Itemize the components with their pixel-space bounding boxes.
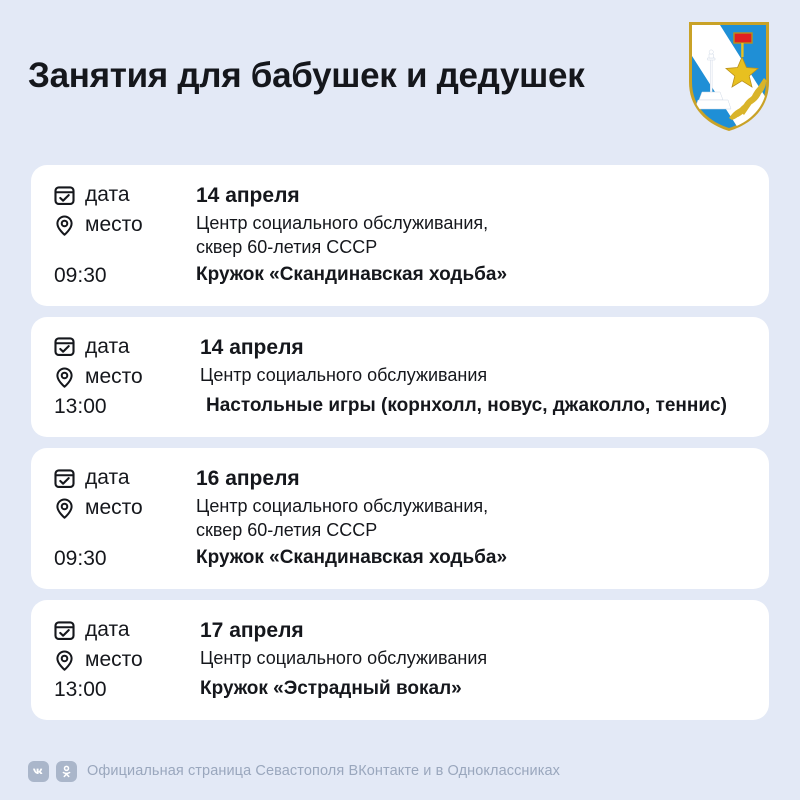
date-label-group: дата — [53, 181, 196, 208]
calendar-check-icon — [53, 619, 76, 642]
place-value-wrap: Центр социального обслуживания — [196, 363, 747, 388]
date-value-wrap: 16 апреля — [196, 464, 747, 492]
event-name: Кружок «Эстрадный вокал» — [200, 677, 747, 702]
date-label: дата — [85, 182, 130, 208]
event-date: 17 апреля — [200, 617, 747, 644]
event-place-row: место Центр социального обслуживания, ск… — [53, 211, 747, 260]
event-place: Центр социального обслуживания, сквер 60… — [196, 495, 747, 543]
event-date-row: дата 14 апреля — [53, 181, 747, 209]
place-label-group: место — [53, 363, 196, 390]
event-card[interactable]: дата 17 апреля место Центр социального о… — [31, 600, 769, 720]
place-label: место — [85, 495, 143, 521]
event-place: Центр социального обслуживания, сквер 60… — [196, 212, 747, 260]
event-value-wrap: Кружок «Скандинавская ходьба» — [196, 262, 747, 288]
place-value-wrap: Центр социального обслуживания, сквер 60… — [196, 211, 747, 260]
events-list: дата 14 апреля место Центр социального о… — [31, 165, 769, 720]
event-time: 13:00 — [53, 677, 107, 703]
event-name: Настольные игры (корнхолл, новус, джакол… — [206, 394, 747, 419]
place-value-wrap: Центр социального обслуживания, сквер 60… — [196, 494, 747, 543]
event-value-wrap: Кружок «Эстрадный вокал» — [196, 676, 747, 702]
event-date: 14 апреля — [196, 182, 747, 209]
place-label: место — [85, 647, 143, 673]
event-place-row: место Центр социального обслуживания — [53, 646, 747, 674]
event-time-row: 09:30 Кружок «Скандинавская ходьба» — [53, 545, 747, 573]
event-time: 13:00 — [53, 394, 107, 420]
calendar-check-icon — [53, 467, 76, 490]
event-place: Центр социального обслуживания — [200, 647, 747, 671]
time-group: 09:30 — [53, 262, 196, 289]
event-place: Центр социального обслуживания — [200, 364, 747, 388]
place-label: место — [85, 212, 143, 238]
event-date: 14 апреля — [200, 334, 747, 361]
calendar-check-icon — [53, 335, 76, 358]
time-group: 09:30 — [53, 545, 196, 572]
page-title: Занятия для бабушек и дедушек — [28, 56, 584, 96]
event-date: 16 апреля — [196, 465, 747, 492]
event-name: Кружок «Скандинавская ходьба» — [196, 263, 747, 288]
place-label-group: место — [53, 211, 196, 238]
map-pin-icon — [53, 366, 76, 389]
date-label-group: дата — [53, 616, 196, 643]
event-name: Кружок «Скандинавская ходьба» — [196, 546, 747, 571]
event-card[interactable]: дата 14 апреля место Центр социального о… — [31, 165, 769, 306]
event-card[interactable]: дата 14 апреля место Центр социального о… — [31, 317, 769, 437]
ok-icon[interactable] — [56, 761, 77, 782]
date-label: дата — [85, 617, 130, 643]
map-pin-icon — [53, 214, 76, 237]
header: Занятия для бабушек и дедушек — [0, 0, 800, 152]
place-label-group: место — [53, 494, 196, 521]
event-value-wrap: Настольные игры (корнхолл, новус, джакол… — [196, 393, 747, 419]
place-label-group: место — [53, 646, 196, 673]
event-value-wrap: Кружок «Скандинавская ходьба» — [196, 545, 747, 571]
calendar-check-icon — [53, 184, 76, 207]
event-card[interactable]: дата 16 апреля место Центр социального о… — [31, 448, 769, 589]
date-value-wrap: 14 апреля — [196, 333, 747, 361]
date-label: дата — [85, 334, 130, 360]
map-pin-icon — [53, 649, 76, 672]
event-time-row: 09:30 Кружок «Скандинавская ходьба» — [53, 262, 747, 290]
event-place-row: место Центр социального обслуживания, ск… — [53, 494, 747, 543]
event-place-row: место Центр социального обслуживания — [53, 363, 747, 391]
place-label: место — [85, 364, 143, 390]
event-time-row: 13:00 Кружок «Эстрадный вокал» — [53, 676, 747, 704]
vk-glyph-icon — [31, 764, 46, 779]
event-time: 09:30 — [53, 263, 107, 289]
time-group: 13:00 — [53, 393, 196, 420]
event-time-row: 13:00 Настольные игры (корнхолл, новус, … — [53, 393, 747, 421]
event-date-row: дата 16 апреля — [53, 464, 747, 492]
footer: Официальная страница Севастополя ВКонтак… — [28, 761, 560, 782]
time-group: 13:00 — [53, 676, 196, 703]
footer-text: Официальная страница Севастополя ВКонтак… — [84, 763, 560, 780]
date-label: дата — [85, 465, 130, 491]
vk-icon[interactable] — [28, 761, 49, 782]
sevastopol-coat-of-arms-icon — [686, 20, 772, 132]
date-label-group: дата — [53, 464, 196, 491]
event-date-row: дата 14 апреля — [53, 333, 747, 361]
event-date-row: дата 17 апреля — [53, 616, 747, 644]
poster-root: Занятия для бабушек и дедушек — [0, 0, 800, 800]
ok-glyph-icon — [59, 764, 74, 779]
date-label-group: дата — [53, 333, 196, 360]
date-value-wrap: 14 апреля — [196, 181, 747, 209]
place-value-wrap: Центр социального обслуживания — [196, 646, 747, 671]
date-value-wrap: 17 апреля — [196, 616, 747, 644]
event-time: 09:30 — [53, 546, 107, 572]
map-pin-icon — [53, 497, 76, 520]
